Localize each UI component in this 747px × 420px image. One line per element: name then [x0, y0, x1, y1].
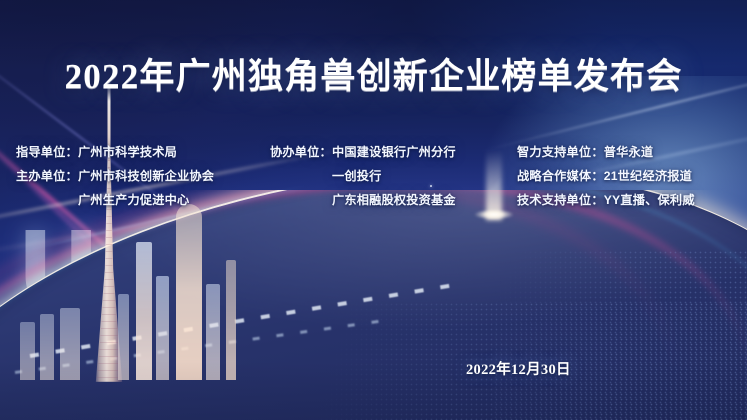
credit-row: 协办单位： 广东相融股权投资基金: [270, 190, 456, 214]
credit-value: 广东相融股权投资基金: [332, 190, 456, 208]
left-tower: [20, 322, 35, 380]
credits-column-middle: 协办单位： 中国建设银行广州分行 协办单位： 一创投行 协办单位： 广东相融股权…: [270, 142, 456, 214]
credit-label: 战略合作媒体：: [517, 166, 604, 184]
credit-row: 协办单位： 中国建设银行广州分行: [270, 142, 456, 166]
credit-label: 技术支持单位：: [517, 190, 604, 208]
credit-row: 战略合作媒体： 21世纪经济报道: [517, 166, 695, 190]
credit-value: 广州市科技创新企业协会: [78, 166, 214, 184]
credit-row: 主办单位： 广州市科技创新企业协会: [16, 166, 214, 190]
credits-column-right: 智力支持单位： 普华永道 战略合作媒体： 21世纪经济报道 技术支持单位： YY…: [517, 142, 695, 214]
credit-label: 主办单位：: [16, 166, 78, 184]
credit-row: 技术支持单位： YY直播、保利威: [517, 190, 695, 214]
credit-label: 指导单位：: [16, 142, 78, 160]
left-tower: [176, 204, 202, 380]
left-tower: [60, 308, 80, 380]
left-tower: [206, 284, 220, 380]
credit-row: 指导单位： 广州市科学技术局: [16, 142, 214, 166]
page-title: 2022年广州独角兽创新企业榜单发布会: [0, 48, 747, 99]
credit-value: 普华永道: [604, 142, 654, 160]
credit-row: 协办单位： 一创投行: [270, 166, 456, 190]
credit-label: 智力支持单位：: [517, 142, 604, 160]
credit-row: 智力支持单位： 普华永道: [517, 142, 695, 166]
credit-value: 21世纪经济报道: [604, 166, 692, 184]
credit-value: 一创投行: [332, 166, 382, 184]
event-date: 2022年12月30日: [466, 358, 571, 379]
credits-block: 指导单位： 广州市科学技术局 主办单位： 广州市科技创新企业协会 主办单位： 广…: [0, 142, 747, 214]
left-tower: [40, 314, 54, 380]
event-poster: Unicorns: [0, 0, 747, 420]
left-tower: [226, 260, 236, 380]
credit-value: 广州生产力促进中心: [78, 190, 190, 208]
credit-value: 中国建设银行广州分行: [332, 142, 456, 160]
left-tower: [118, 294, 129, 380]
dot-grid-2: [493, 250, 747, 420]
credit-value: YY直播、保利威: [604, 190, 695, 208]
credits-column-left: 指导单位： 广州市科学技术局 主办单位： 广州市科技创新企业协会 主办单位： 广…: [16, 142, 214, 214]
left-tower: [136, 242, 152, 380]
left-tower: [156, 276, 169, 380]
credit-value: 广州市科学技术局: [78, 142, 177, 160]
credit-label: 协办单位：: [270, 142, 332, 160]
credit-row: 主办单位： 广州生产力促进中心: [16, 190, 214, 214]
